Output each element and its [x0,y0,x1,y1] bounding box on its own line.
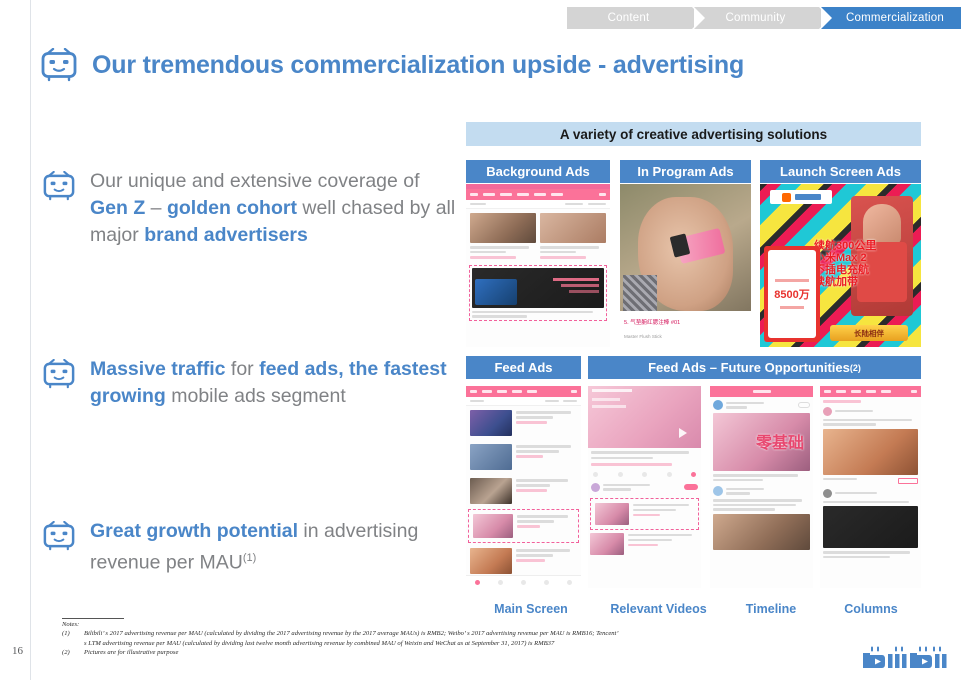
section-label: Feed Ads [494,360,552,375]
like-icon[interactable] [593,472,598,477]
section-header-feed-ads-future: Feed Ads – Future Opportunities(2) [588,356,921,379]
breadcrumb-label: Community [726,12,786,24]
nav-action [599,193,606,196]
tab-home[interactable] [466,576,489,588]
text-run-highlight: Gen Z [90,197,145,219]
video-card[interactable] [470,213,536,259]
footnote-marker: (2) [850,363,861,373]
sub-action [588,203,606,206]
bilibili-tv-icon [42,521,76,551]
footnote-heading: Notes: [62,620,622,629]
video-player[interactable] [588,386,701,448]
nav-logo [470,193,478,196]
text-run-highlight: Great growth potential [90,520,298,542]
page-title: Our tremendous commercialization upside … [92,51,744,80]
screenshot-background-ads [466,184,610,347]
follow-button[interactable] [684,484,698,490]
uploader-row[interactable] [591,481,698,494]
feed-ad-highlight [468,509,579,543]
page-title-row: Our tremendous commercialization upside … [40,48,744,82]
bullet-massive-traffic: Massive traffic for feed ads, the fastes… [42,356,462,410]
tab-following[interactable] [535,576,558,588]
avatar [713,400,723,410]
tab-me[interactable] [558,576,581,588]
footnote-text: Bilibili’ s 2017 advertising revenue per… [84,629,622,648]
left-margin-rule [30,0,31,680]
breadcrumb-label: Commercialization [846,12,944,24]
nav-tab [517,193,529,196]
action-row [591,470,698,481]
app-nav-bar [466,386,581,397]
post-header[interactable] [713,486,810,496]
favorite-icon[interactable] [642,472,647,477]
section-header-background-ads: Background Ads [466,160,610,183]
avatar [713,486,723,496]
nav-tab [534,193,546,196]
in-program-caption-en: Master Flush Stick [624,334,662,339]
list-item[interactable] [466,474,581,508]
tab-channel[interactable] [489,576,512,588]
screenshot-launch-screen-ads: 续航300公里 小米Max 2 不插电充航 续航加带 8500万 长陆相伴 [760,184,921,347]
breadcrumb-item-community[interactable]: Community [694,7,819,29]
post-header[interactable] [823,489,918,498]
columns-list [820,397,921,561]
launch-cta[interactable]: 长陆相伴 [854,328,884,339]
app-nav-bar [820,386,921,397]
breadcrumb-label: Content [608,12,650,24]
footnote-marker: (1) [243,552,256,564]
footnote-number: (2) [62,648,84,657]
avatar [823,407,832,416]
post-image[interactable]: 零基础 [713,413,810,471]
sub-action [565,203,583,206]
bilibili-tv-icon [42,171,76,201]
bullet-text: Massive traffic for feed ads, the fastes… [90,356,462,410]
launch-phone-card: 8500万 [764,246,820,342]
list-item[interactable] [466,406,581,440]
screenshot-feed-columns [820,386,921,588]
bilibili-logo [862,645,950,676]
background-ad-highlight [469,265,607,321]
screenshot-feed-relevant-videos [588,386,701,588]
screenshot-feed-timeline: 零基础 [710,386,813,588]
bilibili-tv-icon [40,48,78,82]
screenshot-captions-row: Main Screen Relevant Videos Timeline Col… [466,602,921,616]
column-title: 零基础 [756,429,804,453]
launch-headline: 续航300公里 小米Max 2 不插电充航 续航加带 [814,240,878,288]
breadcrumb-item-commercialization[interactable]: Commercialization [821,7,961,29]
action-chip[interactable] [898,478,918,484]
nav-tab [500,193,512,196]
sub-nav [466,200,610,209]
download-icon[interactable] [691,472,696,477]
footnotes: Notes: (1) Bilibili’ s 2017 advertising … [62,618,622,657]
app-nav-bar [466,189,610,200]
bullet-text: Our unique and extensive coverage of Gen… [90,168,462,249]
text-run: Our unique and extensive coverage of [90,170,420,192]
screenshot-in-program-ads: 5. 气垫腑红腮注棒 #01 Master Flush Stick [620,184,751,347]
nav-tab [483,193,495,196]
video-grid [466,209,610,263]
caption-relevant-videos: Relevant Videos [596,602,721,616]
page-number: 16 [12,645,23,657]
list-item-ad[interactable] [471,512,576,540]
section-label: In Program Ads [637,164,733,179]
post-image[interactable] [823,429,918,475]
bilibili-tv-icon [42,359,76,389]
footnote-rule [62,618,124,619]
section-label: Background Ads [486,164,590,179]
bullet-gen-z-coverage: Our unique and extensive coverage of Gen… [42,168,462,249]
text-run: – [145,197,167,219]
section-label: Feed Ads – Future Opportunities [648,360,850,375]
breadcrumb: Content Community Commercialization [567,7,961,29]
follow-button[interactable] [798,402,810,408]
section-label: Launch Screen Ads [780,164,901,179]
post-header[interactable] [713,400,810,410]
timeline-list: 零基础 [710,397,813,553]
post-image[interactable] [823,506,918,548]
tab-discover[interactable] [512,576,535,588]
footnote-item: (1) Bilibili’ s 2017 advertising revenue… [62,629,622,648]
post-image[interactable] [713,514,810,550]
in-program-caption-cn: 5. 气垫腑红腮注棒 #01 [624,318,680,326]
avatar [823,489,832,498]
play-icon[interactable] [679,428,687,438]
launch-number: 8500万 [774,286,809,302]
section-header-launch-screen-ads: Launch Screen Ads [760,160,921,183]
sub-nav [466,397,581,406]
bottom-tab-bar [466,575,581,588]
share-icon[interactable] [667,472,672,477]
list-item[interactable] [466,440,581,474]
nav-tab [551,193,563,196]
text-run-highlight: Massive traffic [90,358,225,380]
list-item[interactable] [466,544,581,578]
text-run: mobile ads segment [166,385,346,407]
breadcrumb-item-content[interactable]: Content [567,7,692,29]
section-header-feed-ads: Feed Ads [466,356,581,379]
sub-label [470,203,486,206]
section-header-in-program-ads: In Program Ads [620,160,751,183]
list-item[interactable] [588,531,701,557]
banner-label: A variety of creative advertising soluti… [560,127,827,142]
post-header[interactable] [823,407,918,416]
coin-icon[interactable] [618,472,623,477]
footnote-number: (1) [62,629,84,648]
creative-solutions-banner: A variety of creative advertising soluti… [466,122,921,146]
avatar [591,483,600,492]
text-run-highlight: brand advertisers [144,224,308,246]
text-run-highlight: golden cohort [167,197,297,219]
app-nav-bar [710,386,813,397]
video-info [588,448,701,497]
footnote-text: Pictures are for illustrative purpose [84,648,622,657]
bullet-growth-potential: Great growth potential in advertising re… [42,518,462,577]
video-card[interactable] [540,213,606,259]
caption-main-screen: Main Screen [466,602,596,616]
caption-timeline: Timeline [721,602,821,616]
footnote-item: (2) Pictures are for illustrative purpos… [62,648,622,657]
bullet-text: Great growth potential in advertising re… [90,518,462,577]
caption-columns: Columns [821,602,921,616]
feed-ad-highlight [590,498,699,530]
list-item-ad[interactable] [593,501,696,527]
text-run: for [225,358,259,380]
screenshot-feed-main-screen [466,386,581,588]
